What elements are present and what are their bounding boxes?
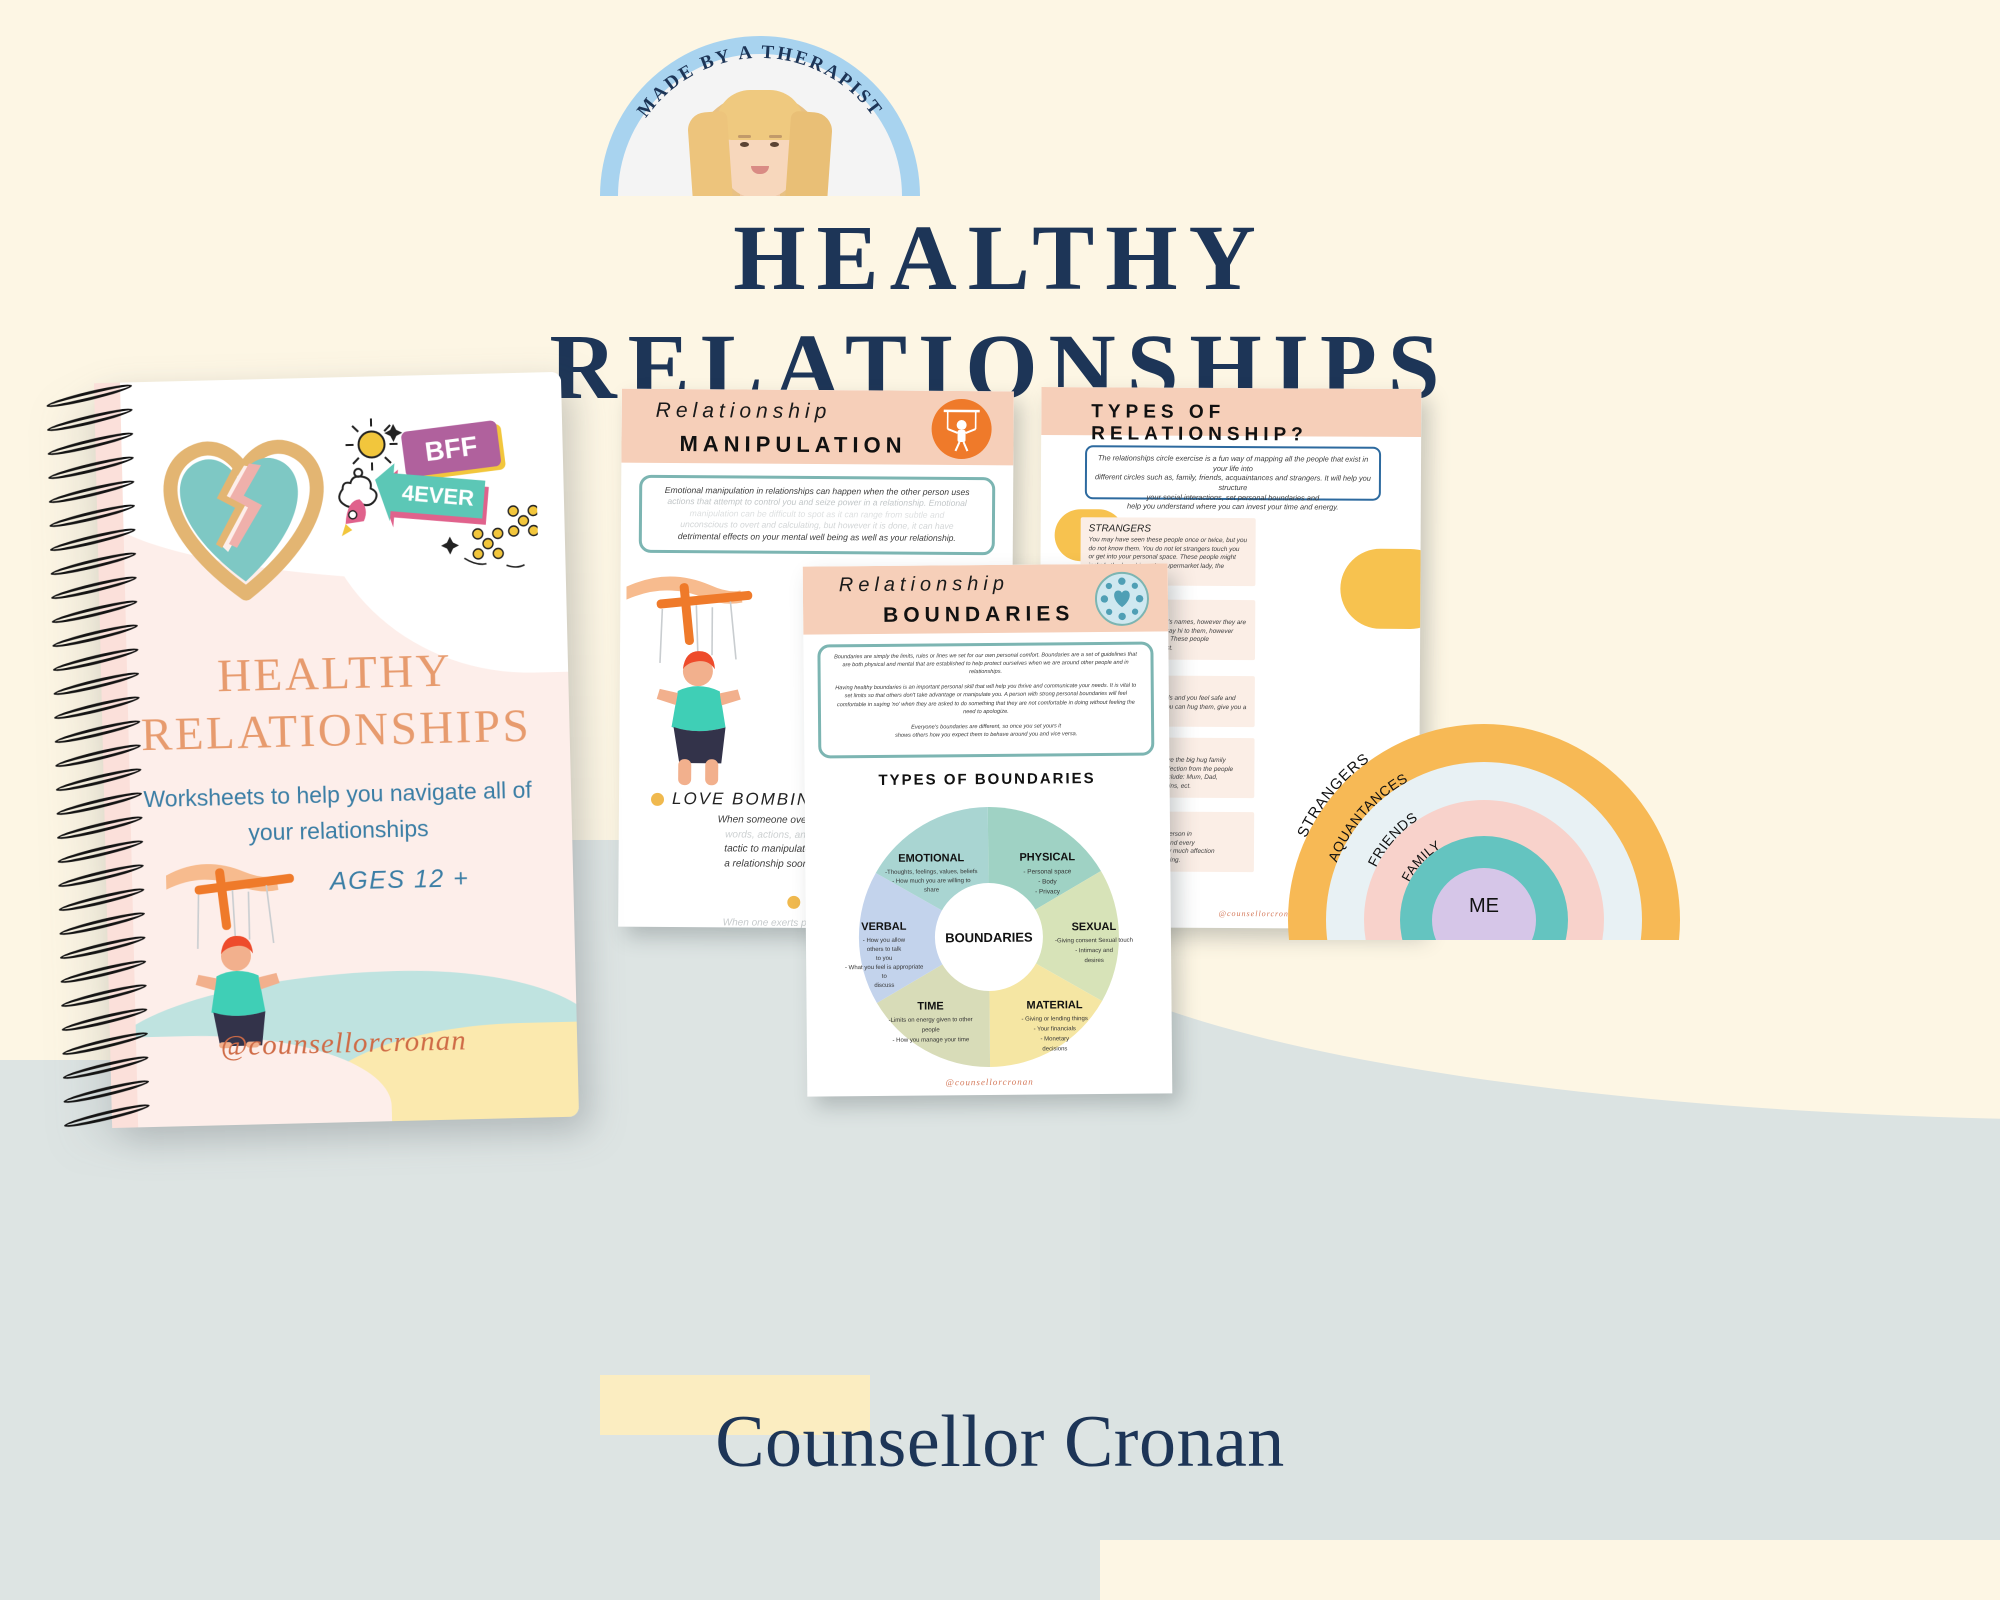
badge-text: MADE BY A THERAPIST bbox=[633, 42, 887, 122]
badge-curved-text: MADE BY A THERAPIST bbox=[600, 36, 920, 196]
ring-label-me: ME bbox=[1469, 895, 1499, 917]
card-line: You may have seen these people once or t… bbox=[1089, 536, 1248, 545]
intro-line: unconscious to overt and calculating, bu… bbox=[652, 519, 982, 533]
intro-line: help you understand where you can invest… bbox=[1093, 501, 1373, 512]
cover-puppet-illustration bbox=[165, 844, 380, 1049]
boundaries-intro-box: Boundaries are simply the limits, rules … bbox=[817, 642, 1154, 759]
manipulation-intro-lines: Emotional manipulation in relationships … bbox=[642, 478, 992, 552]
bullet-dot-icon bbox=[788, 896, 801, 909]
slice-detail: - Your financials bbox=[1034, 1026, 1076, 1032]
slice-label-physical: PHYSICAL bbox=[1019, 851, 1075, 863]
manipulation-eyebrow: Relationship bbox=[656, 399, 832, 424]
hands-heart-icon bbox=[1095, 572, 1149, 626]
relationships-circle-diagram: STRANGERS AQUANTANCES FRIENDS FAMILY ME bbox=[1248, 520, 1708, 940]
made-by-therapist-badge: MADE BY A THERAPIST bbox=[600, 36, 920, 196]
boundaries-intro-lines: Boundaries are simply the limits, rules … bbox=[820, 645, 1151, 747]
book-front-cover: BFF 4EVER bbox=[94, 372, 579, 1128]
slice-detail: to you bbox=[876, 956, 892, 962]
book-cover[interactable]: BFF 4EVER bbox=[46, 372, 579, 1129]
book-title-line2: RELATIONSHIPS bbox=[102, 697, 570, 766]
slice-detail: - Intimacy and bbox=[1075, 948, 1113, 954]
worksheet-boundaries[interactable]: Relationship BOUNDARIES Boundaries are s… bbox=[803, 563, 1173, 1096]
puppeteer-icon bbox=[931, 399, 991, 459]
intro-line: The relationships circle exercise is a f… bbox=[1093, 453, 1373, 474]
slice-detail: -Giving consent Sexual touch bbox=[1055, 938, 1133, 945]
page-title-line1: HEALTHY bbox=[733, 207, 1267, 310]
slice-detail: - Body bbox=[1038, 878, 1057, 885]
bullet-dot-icon bbox=[651, 792, 664, 805]
slice-detail: people bbox=[922, 1027, 941, 1033]
slice-detail: others to talk bbox=[867, 947, 902, 953]
slice-label-verbal: VERBAL bbox=[861, 921, 907, 933]
slice-detail: to bbox=[882, 974, 888, 980]
book-cover-title: HEALTHY RELATIONSHIPS bbox=[101, 640, 571, 766]
manipulation-heading: MANIPULATION bbox=[679, 431, 906, 459]
intro-line: detrimental effects on your mental well … bbox=[652, 531, 982, 545]
footer-brand: Counsellor Cronan bbox=[0, 1400, 2000, 1485]
types-heading: TYPES OF RELATIONSHIP? bbox=[1091, 401, 1421, 447]
slice-detail: desires bbox=[1084, 958, 1103, 964]
slice-detail: - What you feel is appropriate bbox=[845, 965, 924, 972]
boundaries-wheel-chart: BOUNDARIES EMOTIONAL -Thoughts, feelings… bbox=[825, 800, 1153, 1075]
book-cover-subtitle: Worksheets to help you navigate all of y… bbox=[132, 772, 545, 853]
slice-label-emotional: EMOTIONAL bbox=[898, 852, 964, 865]
wheel-center-label: BOUNDARIES bbox=[945, 930, 1033, 946]
slice-detail: -Limits on energy given to other bbox=[889, 1017, 973, 1024]
badge-clip: MADE BY A THERAPIST bbox=[600, 36, 920, 196]
intro-line: different circles such as, family, frien… bbox=[1093, 473, 1373, 494]
bff-sticker-cluster: BFF 4EVER bbox=[335, 406, 539, 591]
card-title: STRANGERS bbox=[1089, 523, 1248, 535]
intro-line: shows others how you expect them to beha… bbox=[827, 729, 1145, 740]
types-intro-box: The relationships circle exercise is a f… bbox=[1085, 445, 1381, 501]
slice-detail: - How you allow bbox=[863, 938, 906, 944]
slice-label-sexual: SEXUAL bbox=[1071, 921, 1116, 933]
slice-detail: share bbox=[924, 887, 940, 893]
slice-detail: - How much you are willing to bbox=[892, 878, 971, 885]
slice-detail: discuss bbox=[874, 983, 894, 989]
spiral-binding bbox=[46, 390, 160, 1122]
slice-detail: - How you manage your time bbox=[892, 1037, 969, 1044]
slice-label-material: MATERIAL bbox=[1026, 999, 1082, 1011]
slice-detail: -Thoughts, feelings, values, beliefs bbox=[885, 869, 977, 876]
manipulation-intro-box: Emotional manipulation in relationships … bbox=[639, 475, 996, 555]
boundaries-eyebrow: Relationship bbox=[839, 573, 1009, 597]
boundaries-watermark: @counsellorcronan bbox=[807, 1075, 1172, 1088]
boundaries-heading: BOUNDARIES bbox=[883, 602, 1074, 628]
section-title: LOVE BOMBING bbox=[672, 789, 827, 810]
broken-heart-icon bbox=[147, 419, 341, 604]
poster-canvas: MADE BY A THERAPIST HEALTHY RELATIONSHIP… bbox=[0, 0, 2000, 1524]
slice-detail: - Privacy bbox=[1035, 888, 1061, 895]
slice-detail: - Giving or lending things bbox=[1021, 1016, 1087, 1023]
slice-label-time: TIME bbox=[917, 1000, 943, 1012]
slice-detail: - Monetary bbox=[1040, 1036, 1069, 1042]
slice-detail: decisions bbox=[1042, 1046, 1067, 1052]
svg-text:MADE BY A THERAPIST: MADE BY A THERAPIST bbox=[633, 42, 887, 122]
slice-detail: - Personal space bbox=[1023, 868, 1071, 875]
boundaries-diagram-title: TYPES OF BOUNDARIES bbox=[804, 769, 1169, 789]
